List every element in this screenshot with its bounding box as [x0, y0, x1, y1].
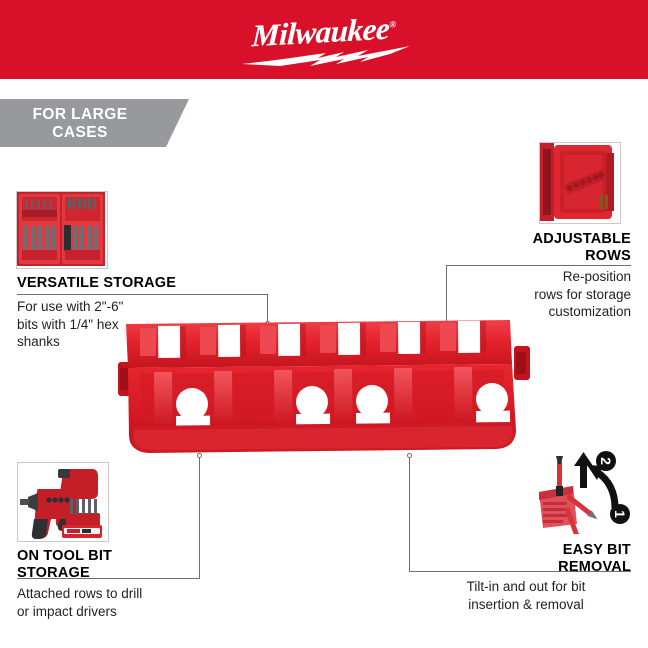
on-tool-bit-storage-thumbnail — [17, 462, 109, 542]
lightning-bolt-icon — [240, 45, 412, 67]
adjustable-rows-title-line-2: ROWS — [401, 248, 631, 265]
adjustable-rows-body: Re-position rows for storage customizati… — [431, 268, 631, 321]
step-2-label: 2 — [598, 457, 614, 465]
milwaukee-logo: Milwaukee® — [234, 11, 414, 69]
on-tool-bit-storage-leader-horizontal — [17, 578, 200, 579]
on-tool-bit-storage-body: Attached rows to drill or impact drivers — [17, 585, 237, 620]
adjustable-rows-body-line-1: Re-position — [431, 268, 631, 286]
easy-bit-removal-leader-horizontal — [409, 571, 631, 572]
easy-bit-removal-body: Tilt-in and out for bit insertion & remo… — [421, 578, 631, 613]
adjustable-rows-title-line-1: ADJUSTABLE — [401, 231, 631, 248]
easy-bit-removal-leader-vertical — [409, 456, 410, 571]
infographic-page: Milwaukee® FOR LARGE CASES — [0, 0, 648, 648]
ribbon-line-1: FOR LARGE — [0, 106, 160, 124]
adjustable-rows-thumbnail — [539, 142, 621, 224]
product-bit-rack-image — [118, 318, 530, 458]
on-tool-bit-storage-title-line-2: STORAGE — [17, 565, 247, 582]
easy-bit-removal-thumbnail: 2 1 — [527, 450, 631, 534]
for-large-cases-ribbon: FOR LARGE CASES — [0, 99, 189, 147]
versatile-storage-thumbnail — [16, 191, 108, 269]
on-tool-bit-storage-body-line-2: or impact drivers — [17, 603, 237, 621]
easy-bit-removal-body-line-1: Tilt-in and out for bit — [421, 578, 631, 596]
versatile-storage-leader-horizontal — [17, 294, 267, 295]
easy-bit-removal-title-line-2: REMOVAL — [401, 559, 631, 576]
adjustable-rows-leader-vertical — [446, 265, 447, 323]
ribbon-label: FOR LARGE CASES — [0, 106, 160, 142]
versatile-storage-title: VERSATILE STORAGE — [17, 275, 247, 292]
adjustable-rows-body-line-2: rows for storage — [431, 286, 631, 304]
adjustable-rows-title: ADJUSTABLE ROWS — [401, 231, 631, 265]
adjustable-rows-leader-horizontal — [446, 265, 631, 266]
registered-mark-icon: ® — [389, 19, 396, 29]
ribbon-line-2: CASES — [0, 124, 160, 142]
on-tool-bit-storage-title-line-1: ON TOOL BIT — [17, 548, 247, 565]
versatile-storage-body-line-1: For use with 2"-6" — [17, 298, 217, 316]
easy-bit-removal-title-line-1: EASY BIT — [401, 542, 631, 559]
on-tool-bit-storage-leader-vertical — [199, 456, 200, 578]
brand-header: Milwaukee® — [0, 0, 648, 79]
easy-bit-removal-body-line-2: insertion & removal — [421, 596, 631, 614]
on-tool-bit-storage-body-line-1: Attached rows to drill — [17, 585, 237, 603]
step-1-label: 1 — [612, 510, 628, 518]
on-tool-bit-storage-title: ON TOOL BIT STORAGE — [17, 548, 247, 582]
